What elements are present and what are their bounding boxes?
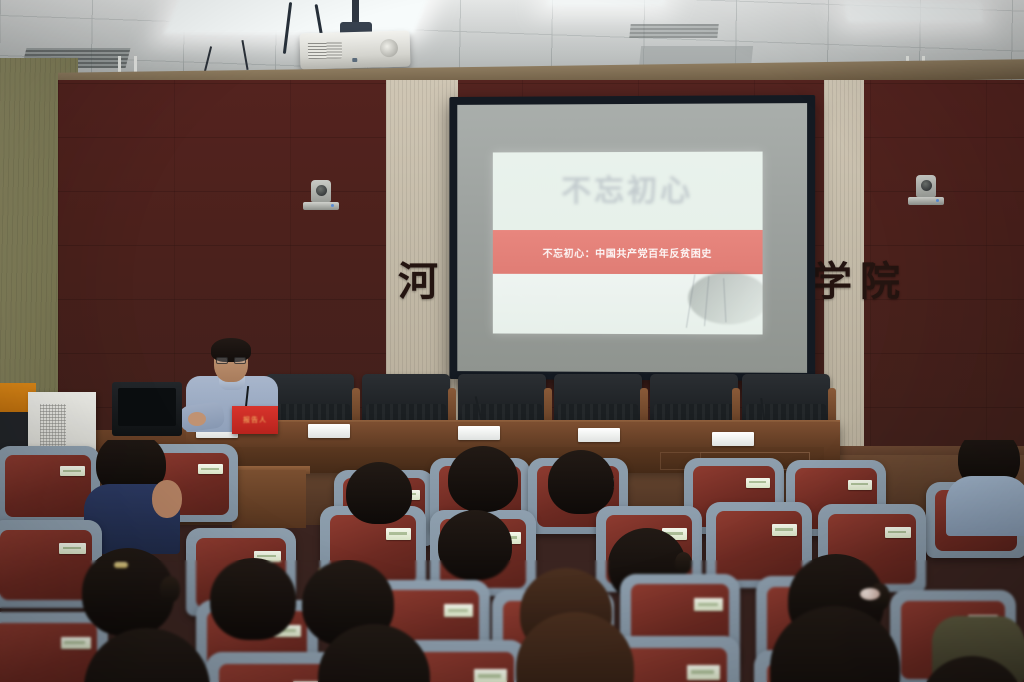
slide-title-faint: 不忘初心 [507, 166, 749, 218]
seat-number-tag [61, 637, 91, 649]
ptz-camera-icon [908, 175, 944, 209]
name-card [308, 424, 350, 438]
hair-clip [114, 562, 128, 568]
hair-accessory [860, 588, 880, 600]
chair-cushion [716, 511, 803, 580]
seat-number-tag [746, 478, 770, 488]
seat-number-tag [772, 524, 797, 535]
projector-icon [300, 31, 411, 70]
ptz-camera-lens-icon [316, 185, 327, 196]
audience-head [82, 548, 174, 636]
audience-head [210, 558, 296, 640]
speaker-nameplate: 报告人 [232, 406, 278, 434]
wall-signage-text-right: 学院 [812, 262, 908, 302]
ptz-camera-icon [303, 180, 339, 214]
audience-head [438, 510, 512, 580]
ceiling-light-fixture [547, 0, 667, 6]
stage-monitor [112, 382, 182, 436]
projector-vent [308, 41, 342, 59]
audience-head [548, 450, 614, 514]
projection-screen-surface: 不忘初心 不忘初心：中国共产党百年反贫困史 [457, 103, 807, 373]
lecture-hall-photo: 河 学院 不忘初心 不忘初心：中国共产党百年反贫困史 [0, 0, 1024, 682]
projector-lens-icon [380, 39, 398, 57]
seat-number-tag [59, 543, 86, 554]
ceiling-light-fixture [845, 2, 984, 22]
seat-number-tag [848, 480, 872, 490]
seat-number-tag [386, 528, 411, 539]
audience-seating [0, 440, 1024, 682]
chair-cushion [0, 623, 97, 682]
ptz-camera-led [331, 204, 334, 207]
seat-number-tag [198, 464, 223, 474]
slide-banner: 不忘初心：中国共产党百年反贫困史 [493, 230, 763, 274]
speaker-hand [188, 412, 206, 426]
audience-hand [152, 480, 182, 518]
chair-cushion [0, 530, 92, 600]
presentation-slide: 不忘初心 不忘初心：中国共产党百年反贫困史 [493, 152, 763, 335]
audience-head [346, 462, 412, 524]
ptz-camera-lens-icon [921, 180, 932, 191]
name-card [458, 426, 500, 440]
ceiling-vent [629, 24, 718, 38]
seat-number-tag [444, 604, 473, 616]
glasses-icon [216, 357, 246, 364]
slide-banner-text: 不忘初心：中国共产党百年反贫困史 [543, 244, 712, 259]
speaker-nameplate-text: 报告人 [243, 415, 267, 425]
seat-number-tag [687, 665, 721, 680]
ptz-camera-led [936, 199, 939, 202]
chair-cushion [219, 664, 334, 682]
ceiling-light-fixture [164, 0, 430, 34]
seat-number-tag [60, 466, 85, 476]
seat-number-tag [885, 527, 911, 538]
chair-cushion [5, 455, 90, 517]
projection-screen: 不忘初心 不忘初心：中国共产党百年反贫困史 [449, 95, 815, 381]
wall-signage-text-left: 河 [398, 262, 446, 302]
audience-torso [946, 476, 1024, 536]
audience-head [448, 446, 518, 512]
seat-number-tag [474, 669, 507, 682]
seat-number-tag [694, 598, 723, 610]
projector-led [352, 58, 357, 62]
